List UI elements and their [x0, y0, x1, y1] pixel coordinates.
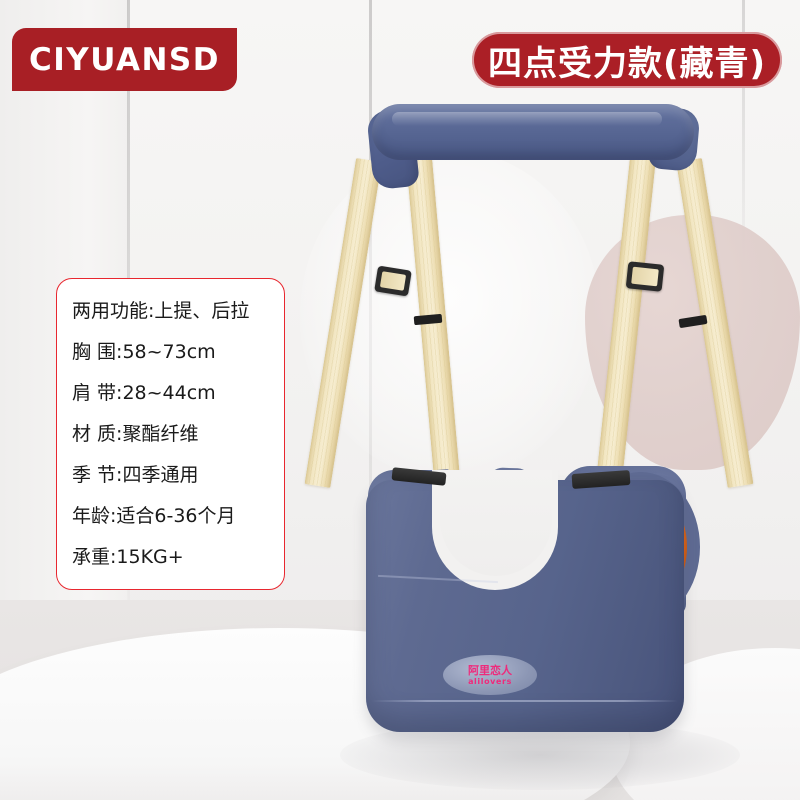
spec-line-age: 年龄:适合6-36个月 [72, 496, 284, 537]
spec-line-load-capacity: 承重:15KG+ [72, 537, 284, 578]
spec-line-shoulder-strap: 肩 带:28~44cm [72, 373, 284, 414]
specification-list: 两用功能:上提、后拉 胸 围:58~73cm 肩 带:28~44cm 材 质:聚… [57, 291, 284, 578]
spec-line-chest: 胸 围:58~73cm [72, 332, 284, 373]
buckle-right-upper [626, 261, 665, 292]
buckle-left-upper [374, 266, 412, 297]
spec-line-function: 两用功能:上提、后拉 [72, 291, 284, 332]
product-logo-patch: 阿里恋人 alilovers [443, 655, 537, 695]
brand-logo-badge: CIYUANSD [12, 28, 237, 91]
product-image-canvas: 阿里恋人 alilovers CIYUANSD 四点受力款(藏青) 两用功能:上… [0, 0, 800, 800]
strap-left-outer [305, 158, 382, 488]
strap-right-inner [596, 157, 656, 488]
variant-badge-label: 四点受力款(藏青) [488, 36, 766, 85]
spec-line-season: 季 节:四季通用 [72, 455, 284, 496]
logo-patch-en-text: alilovers [468, 677, 512, 686]
variant-badge: 四点受力款(藏青) [472, 32, 782, 88]
specification-box: 两用功能:上提、后拉 胸 围:58~73cm 肩 带:28~44cm 材 质:聚… [56, 278, 285, 590]
spec-line-material: 材 质:聚酯纤维 [72, 414, 284, 455]
logo-patch-cn-text: 阿里恋人 [468, 665, 512, 677]
brand-logo-text: CIYUANSD [29, 42, 220, 78]
handle-highlight [392, 112, 662, 126]
vest-bottom-seam [372, 700, 678, 702]
